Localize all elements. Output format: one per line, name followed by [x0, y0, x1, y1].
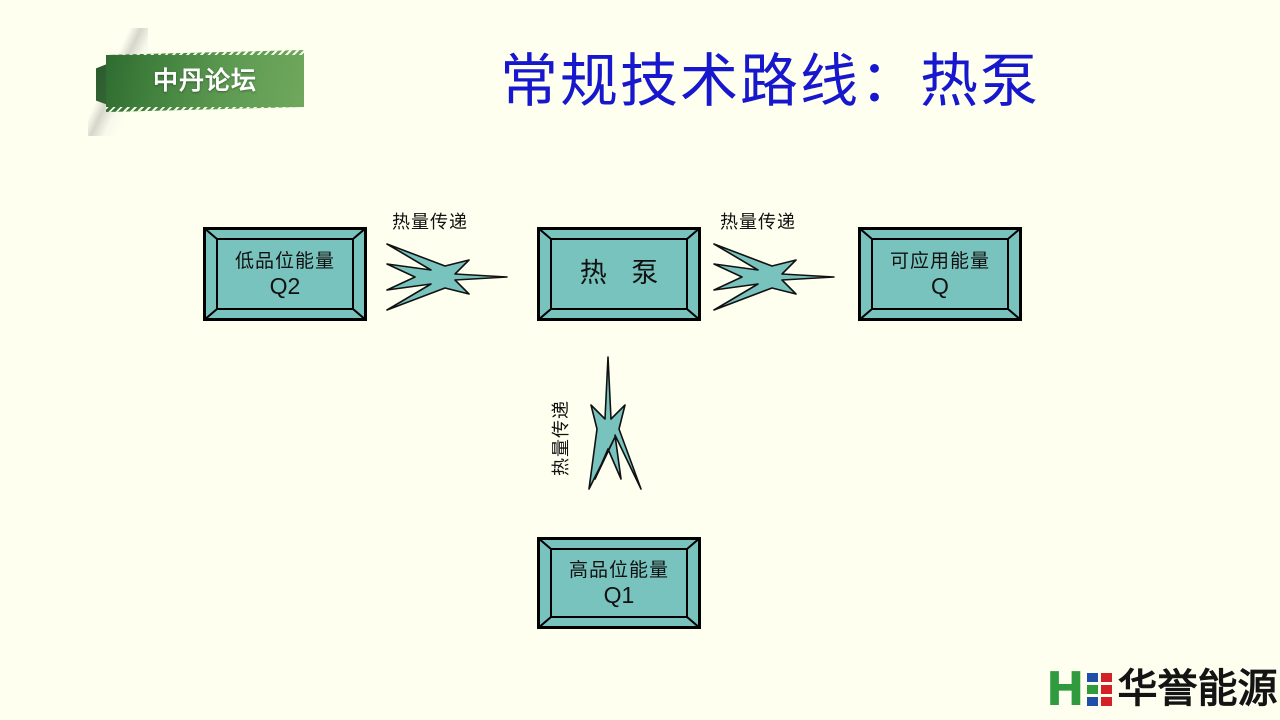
- node-box-usable-energy: 可应用能量 Q: [858, 227, 1022, 321]
- logo-dot: [1101, 697, 1112, 706]
- heat-pump-diagram: 低品位能量 Q2 热 泵 可应用能量: [0, 0, 1280, 720]
- logo-dot: [1101, 673, 1112, 682]
- node-label-line1: 热 泵: [572, 258, 667, 290]
- arrow-label-heat-transfer-2: 热量传递: [720, 208, 796, 234]
- arrow-right-icon-1: [385, 240, 509, 314]
- node-box-label-group: 热 泵: [554, 242, 684, 306]
- node-label-line1: 低品位能量: [235, 250, 335, 273]
- node-label-line2: Q: [931, 273, 949, 299]
- node-box-label-group: 可应用能量 Q: [875, 242, 1005, 306]
- node-box-low-grade-energy: 低品位能量 Q2: [203, 227, 367, 321]
- logo-dot: [1087, 685, 1098, 694]
- logo-dot: [1101, 685, 1112, 694]
- node-box-label-group: 低品位能量 Q2: [220, 242, 350, 306]
- logo-dot: [1087, 697, 1098, 706]
- node-label-line2: Q2: [270, 273, 301, 299]
- logo-dot: [1087, 673, 1098, 682]
- logo-dot-grid-icon: [1087, 673, 1112, 706]
- arrow-label-heat-transfer-3: 热量传递: [547, 400, 573, 476]
- logo-company-name: 华誉能源: [1118, 668, 1278, 710]
- arrow-right-icon-2: [712, 240, 836, 314]
- arrow-label-heat-transfer-1: 热量传递: [392, 208, 468, 234]
- arrow-up-icon-3: [585, 355, 659, 491]
- company-logo: H 华誉能源: [1046, 664, 1278, 714]
- node-box-label-group: 高品位能量 Q1: [554, 552, 684, 614]
- node-label-line1: 高品位能量: [569, 559, 669, 582]
- node-label-line1: 可应用能量: [890, 250, 990, 273]
- node-box-high-grade-energy: 高品位能量 Q1: [537, 537, 701, 629]
- node-label-line2: Q1: [604, 582, 635, 608]
- node-box-heat-pump: 热 泵: [537, 227, 701, 321]
- logo-h-mark: H: [1046, 666, 1083, 712]
